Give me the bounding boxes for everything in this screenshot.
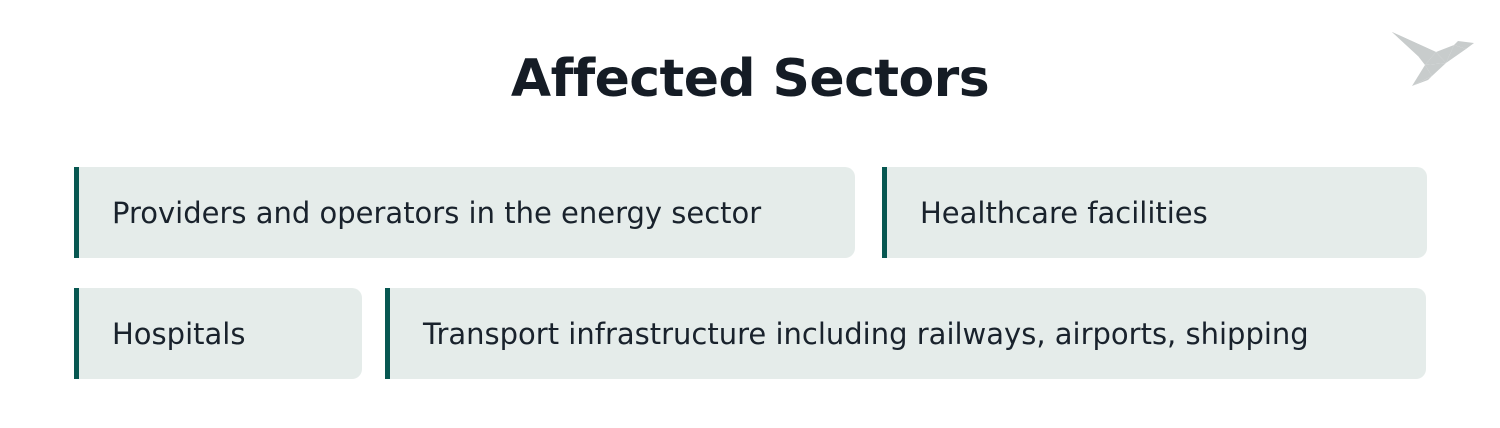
sector-card-label: Hospitals bbox=[79, 317, 267, 351]
sector-card-label: Healthcare facilities bbox=[887, 196, 1230, 230]
sector-card[interactable]: Healthcare facilities bbox=[882, 167, 1427, 258]
slide-affected-sectors: Affected Sectors Providers and operators… bbox=[0, 0, 1500, 428]
page-title: Affected Sectors bbox=[0, 48, 1500, 110]
affected-sectors-list: Providers and operators in the energy se… bbox=[74, 167, 1426, 379]
sector-card[interactable]: Hospitals bbox=[74, 288, 362, 379]
sector-card-label: Providers and operators in the energy se… bbox=[79, 196, 783, 230]
card-row: Providers and operators in the energy se… bbox=[74, 167, 1426, 258]
sector-card[interactable]: Transport infrastructure including railw… bbox=[385, 288, 1426, 379]
sector-card[interactable]: Providers and operators in the energy se… bbox=[74, 167, 855, 258]
card-row: Hospitals Transport infrastructure inclu… bbox=[74, 288, 1426, 379]
card-gap bbox=[855, 167, 882, 258]
sector-card-label: Transport infrastructure including railw… bbox=[390, 317, 1331, 351]
card-gap bbox=[362, 288, 385, 379]
